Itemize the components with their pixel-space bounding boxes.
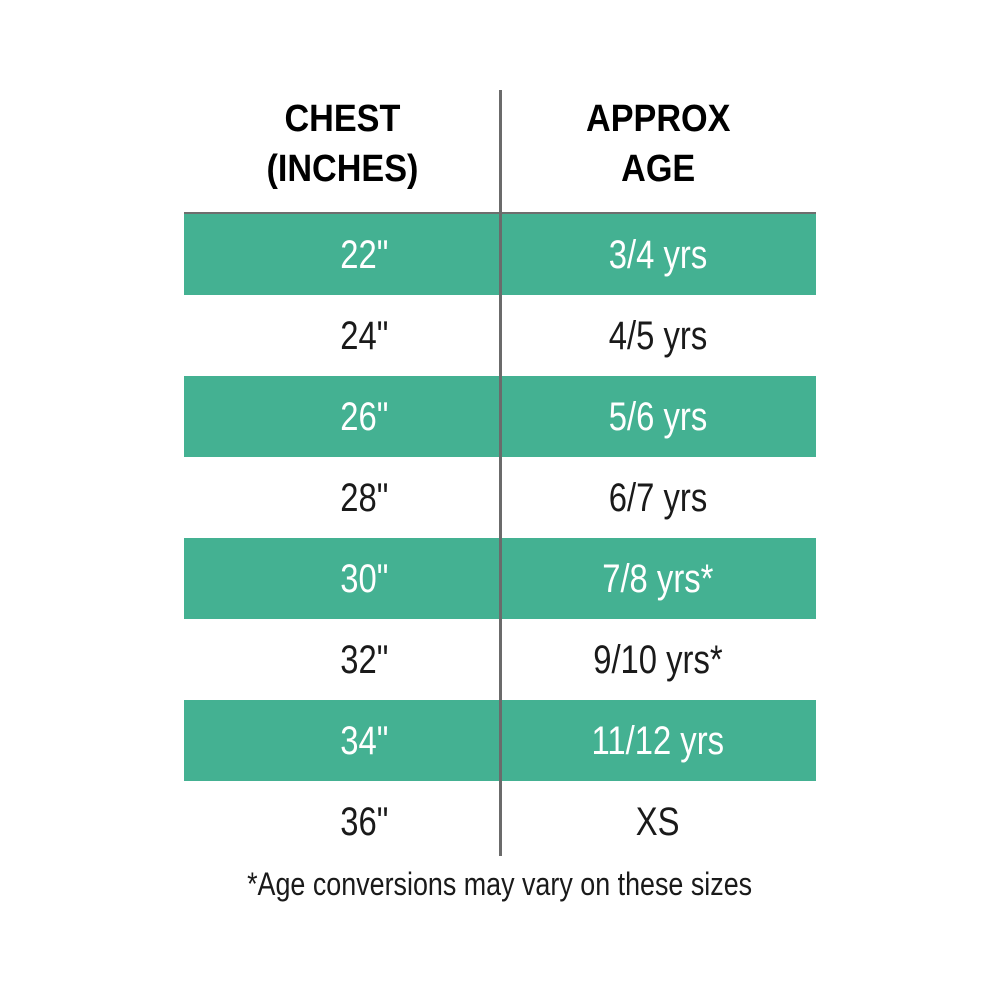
cell-age-value: 9/10 yrs* bbox=[593, 638, 722, 682]
cell-chest-value: 26" bbox=[340, 395, 388, 439]
cell-chest: 24" bbox=[184, 295, 500, 376]
cell-chest-value: 30" bbox=[340, 557, 388, 601]
cell-chest: 34" bbox=[184, 700, 500, 781]
cell-chest-value: 32" bbox=[340, 638, 388, 682]
column-header-age-line2: AGE bbox=[621, 144, 695, 194]
cell-chest: 26" bbox=[184, 376, 500, 457]
cell-age-value: 3/4 yrs bbox=[609, 233, 707, 277]
cell-age: 7/8 yrs* bbox=[500, 538, 816, 619]
cell-chest: 28" bbox=[184, 457, 500, 538]
cell-age: 11/12 yrs bbox=[500, 700, 816, 781]
cell-chest: 30" bbox=[184, 538, 500, 619]
cell-age: 4/5 yrs bbox=[500, 295, 816, 376]
footnote-text: *Age conversions may vary on these sizes bbox=[248, 862, 753, 906]
cell-chest-value: 36" bbox=[340, 800, 388, 844]
column-divider bbox=[499, 90, 502, 856]
cell-age: 5/6 yrs bbox=[500, 376, 816, 457]
column-header-age-line1: APPROX bbox=[586, 94, 730, 144]
cell-age: XS bbox=[500, 781, 816, 862]
cell-age-value: 11/12 yrs bbox=[592, 719, 724, 763]
cell-chest: 22" bbox=[184, 214, 500, 295]
cell-chest-value: 24" bbox=[340, 314, 388, 358]
cell-age-value: 5/6 yrs bbox=[609, 395, 707, 439]
cell-chest-value: 28" bbox=[340, 476, 388, 520]
column-header-chest-line1: CHEST bbox=[284, 94, 400, 144]
column-header-chest-line2: (INCHES) bbox=[266, 144, 418, 194]
cell-age-value: 7/8 yrs* bbox=[602, 557, 713, 601]
cell-age: 9/10 yrs* bbox=[500, 619, 816, 700]
cell-age: 6/7 yrs bbox=[500, 457, 816, 538]
cell-age: 3/4 yrs bbox=[500, 214, 816, 295]
cell-chest: 36" bbox=[184, 781, 500, 862]
column-header-approx-age: APPROX AGE bbox=[500, 88, 816, 212]
cell-chest-value: 22" bbox=[340, 233, 388, 277]
cell-chest: 32" bbox=[184, 619, 500, 700]
cell-chest-value: 34" bbox=[340, 719, 388, 763]
cell-age-value: 4/5 yrs bbox=[609, 314, 707, 358]
footnote: *Age conversions may vary on these sizes bbox=[0, 862, 1000, 906]
cell-age-value: 6/7 yrs bbox=[609, 476, 707, 520]
cell-age-value: XS bbox=[636, 800, 680, 844]
column-header-chest: CHEST (INCHES) bbox=[184, 88, 500, 212]
